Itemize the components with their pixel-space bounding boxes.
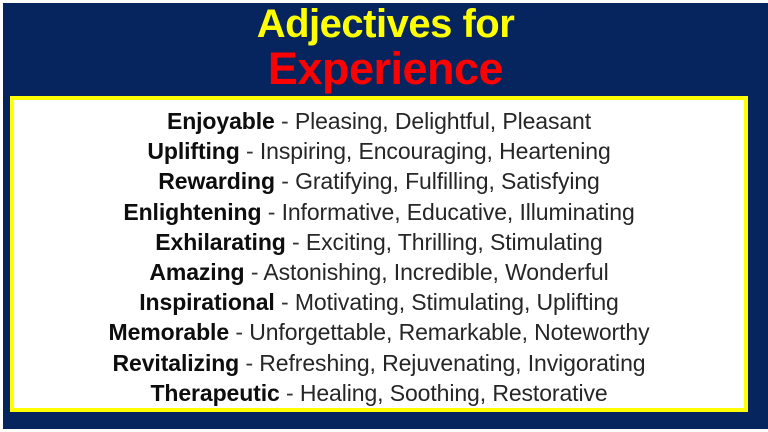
adjective-term: Enjoyable bbox=[167, 108, 275, 134]
list-item: Inspirational - Motivating, Stimulating,… bbox=[14, 287, 744, 317]
page-title-line-two: Experience bbox=[268, 44, 503, 93]
adjective-synonyms: Inspiring, Encouraging, Heartening bbox=[260, 138, 611, 164]
adjective-term: Amazing bbox=[149, 259, 244, 285]
adjective-synonyms: Exciting, Thrilling, Stimulating bbox=[306, 229, 603, 255]
adjective-term: Exhilarating bbox=[155, 229, 285, 255]
adjective-term: Revitalizing bbox=[113, 350, 240, 376]
list-item: Therapeutic - Healing, Soothing, Restora… bbox=[14, 378, 744, 408]
adjective-term: Enlightening bbox=[123, 199, 261, 225]
adjective-term: Rewarding bbox=[158, 168, 275, 194]
adjective-synonyms: Healing, Soothing, Restorative bbox=[300, 380, 608, 406]
adjective-term: Therapeutic bbox=[150, 380, 279, 406]
slide-title-block: Adjectives for Experience bbox=[3, 0, 768, 96]
adjective-separator: - bbox=[281, 289, 289, 315]
adjective-separator: - bbox=[268, 199, 276, 225]
list-item: Exhilarating - Exciting, Thrilling, Stim… bbox=[14, 227, 744, 257]
adjective-separator: - bbox=[246, 138, 254, 164]
adjective-term: Uplifting bbox=[147, 138, 239, 164]
list-item: Amazing - Astonishing, Incredible, Wonde… bbox=[14, 257, 744, 287]
adjective-synonyms: Informative, Educative, Illuminating bbox=[282, 199, 635, 225]
adjective-separator: - bbox=[286, 380, 294, 406]
adjectives-list: Enjoyable - Pleasing, Delightful, Pleasa… bbox=[14, 100, 744, 408]
adjective-separator: - bbox=[251, 259, 259, 285]
adjective-separator: - bbox=[235, 319, 243, 345]
slide-canvas: Adjectives for Experience Enjoyable - Pl… bbox=[0, 0, 768, 432]
adjective-separator: - bbox=[281, 108, 289, 134]
adjective-synonyms: Unforgettable, Remarkable, Noteworthy bbox=[249, 319, 649, 345]
adjectives-card: Enjoyable - Pleasing, Delightful, Pleasa… bbox=[10, 96, 748, 412]
list-item: Uplifting - Inspiring, Encouraging, Hear… bbox=[14, 136, 744, 166]
list-item: Memorable - Unforgettable, Remarkable, N… bbox=[14, 317, 744, 347]
adjective-synonyms: Refreshing, Rejuvenating, Invigorating bbox=[259, 350, 645, 376]
adjective-synonyms: Motivating, Stimulating, Uplifting bbox=[295, 289, 619, 315]
adjective-separator: - bbox=[281, 168, 289, 194]
adjective-synonyms: Pleasing, Delightful, Pleasant bbox=[295, 108, 591, 134]
list-item: Rewarding - Gratifying, Fulfilling, Sati… bbox=[14, 166, 744, 196]
page-title-line-one: Adjectives for bbox=[257, 2, 515, 46]
list-item: Revitalizing - Refreshing, Rejuvenating,… bbox=[14, 348, 744, 378]
list-item: Enlightening - Informative, Educative, I… bbox=[14, 197, 744, 227]
adjective-separator: - bbox=[245, 350, 253, 376]
adjective-term: Inspirational bbox=[139, 289, 274, 315]
adjective-synonyms: Gratifying, Fulfilling, Satisfying bbox=[295, 168, 600, 194]
list-item: Enjoyable - Pleasing, Delightful, Pleasa… bbox=[14, 106, 744, 136]
adjective-synonyms: Astonishing, Incredible, Wonderful bbox=[263, 259, 608, 285]
adjective-separator: - bbox=[292, 229, 300, 255]
adjective-term: Memorable bbox=[109, 319, 230, 345]
